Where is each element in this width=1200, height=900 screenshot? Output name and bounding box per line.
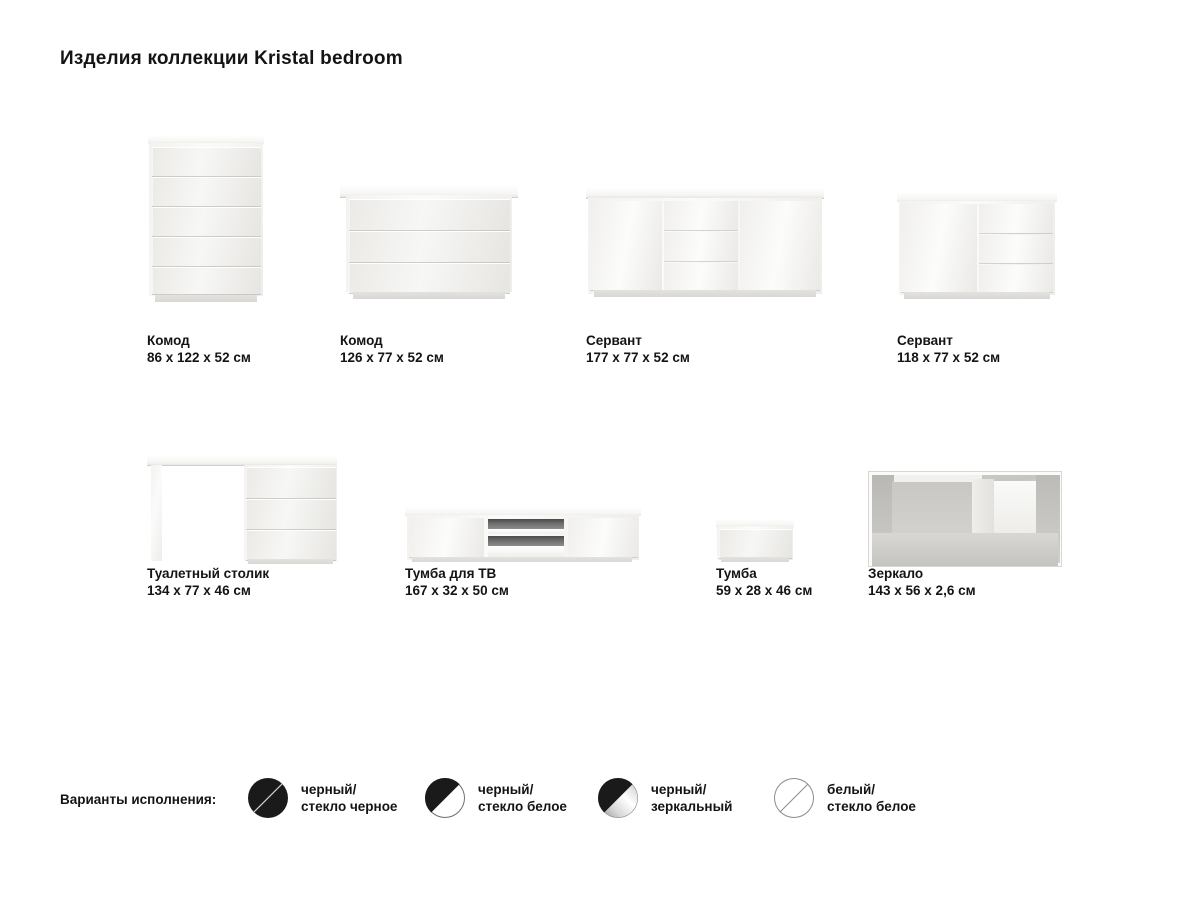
legend-option-line2: зеркальный [651,798,732,815]
product-dimensions: 86 x 122 x 52 см [147,349,251,366]
product-name: Тумба для ТВ [405,565,509,582]
swatch-half-fill-icon [425,778,465,818]
product-dimensions: 143 x 56 x 2,6 см [868,582,976,599]
product-dimensions: 59 x 28 x 46 см [716,582,812,599]
drawer-front-1 [979,204,1053,233]
drawer-front-1 [349,199,510,230]
product-image-wide-chest [340,185,518,305]
reflection-floor [872,533,1058,567]
product-caption: Туалетный столик 134 x 77 x 46 см [147,565,269,599]
product-caption: Комод 86 x 122 x 52 см [147,332,251,366]
product-caption: Сервант 118 x 77 x 52 см [897,332,1000,366]
drawer-front-2 [152,177,261,206]
product-dimensions: 126 x 77 x 52 см [340,349,444,366]
legend-option-line2: стекло белое [478,798,567,815]
product-image-tv-unit [405,507,641,565]
sideboard-top [586,187,824,198]
drawer-front-3 [349,263,510,293]
shelf-lip-1 [488,529,564,534]
product-card-tumba[interactable]: Тумба 59 x 28 x 46 см [716,430,866,610]
product-name: Тумба [716,565,812,582]
door-left [590,201,662,290]
product-caption: Тумба для ТВ 167 x 32 x 50 см [405,565,509,599]
chest-plinth [353,292,505,299]
product-image-mirror [868,471,1060,565]
product-name: Сервант [897,332,1000,349]
drawer-front-right [568,518,638,557]
door-left [901,204,977,292]
product-caption: Комод 126 x 77 x 52 см [340,332,444,366]
sideboard-plinth [594,290,816,297]
product-name: Сервант [586,332,690,349]
legend-option-line2: стекло черное [301,798,397,815]
page-title: Изделия коллекции Kristal bedroom [60,48,403,70]
tv-unit-plinth [412,557,632,562]
legend-option-line1: черный/ [478,781,567,798]
legend-option-text: белый/ стекло белое [827,781,916,815]
swatch-black-white-glass-icon [425,778,465,818]
mirror-glass [872,475,1058,563]
reflection-ceiling-strip [894,475,982,482]
open-shelf-2 [488,536,564,546]
product-card-zerkalo[interactable]: Зеркало 143 x 56 x 2,6 см [868,430,1088,610]
swatch-white-white-glass-icon [774,778,814,818]
legend-option-text: черный/ зеркальный [651,781,732,815]
swatch-diagonal-line-icon [248,778,288,818]
product-card-tualetnyy-stolik[interactable]: Туалетный столик 134 x 77 x 46 см [147,430,387,610]
drawer-front-1 [152,147,261,176]
legend-option-white-white-glass[interactable]: белый/ стекло белое [774,778,916,818]
drawer-block-plinth [248,559,333,564]
shelf-lip-2 [488,546,564,557]
product-dimensions: 118 x 77 x 52 см [897,349,1000,366]
legend-option-line1: белый/ [827,781,916,798]
swatch-half-mirror-icon [598,778,638,818]
product-caption: Зеркало 143 x 56 x 2,6 см [868,565,976,599]
drawer-front-2 [246,499,336,529]
product-name: Комод [340,332,444,349]
legend-option-text: черный/ стекло черное [301,781,397,815]
reflection-column [972,479,994,537]
drawer-front-2 [664,232,738,261]
product-image-sideboard-wide [586,187,824,305]
product-card-servant-118[interactable]: Сервант 118 x 77 x 52 см [897,140,1117,365]
product-name: Туалетный столик [147,565,269,582]
product-name: Зеркало [868,565,976,582]
reflection-wall-back [892,481,972,533]
mirror-frame [868,471,1062,567]
drawer-front-3 [246,530,336,560]
product-image-tall-chest [147,135,265,305]
legend-option-black-mirror[interactable]: черный/ зеркальный [598,778,732,818]
product-dimensions: 134 x 77 x 46 см [147,582,269,599]
product-name: Комод [147,332,251,349]
drawer-front-2 [979,235,1053,263]
sideboard-plinth [904,292,1050,299]
product-caption: Тумба 59 x 28 x 46 см [716,565,812,599]
swatch-black-black-glass-icon [248,778,288,818]
drawer-front-left [409,518,484,557]
drawer-front-3 [152,207,261,236]
product-dimensions: 177 x 77 x 52 см [586,349,690,366]
drawer-front-1 [664,201,738,230]
finish-options-legend: Варианты исполнения: черный/ стекло черн… [60,778,1140,838]
legend-option-line2: стекло белое [827,798,916,815]
chest-plinth [155,295,257,302]
product-image-sideboard-narrow [897,192,1057,305]
product-image-small-cabinet [716,519,794,565]
product-caption: Сервант 177 x 77 x 52 см [586,332,690,366]
drawer-front-5 [152,267,261,294]
legend-option-black-black-glass[interactable]: черный/ стекло черное [248,778,397,818]
legend-option-line1: черный/ [651,781,732,798]
swatch-diagonal-line-icon [774,778,814,818]
door-right [740,201,820,290]
drawer-front-1 [719,529,792,558]
drawer-front-1 [246,467,336,498]
cabinet-plinth [721,557,789,562]
drawer-front-4 [152,237,261,266]
product-card-servant-177[interactable]: Сервант 177 x 77 x 52 см [586,140,846,365]
product-card-komod-126[interactable]: Комод 126 x 77 x 52 см [340,140,580,365]
product-card-tumba-dlya-tv[interactable]: Тумба для ТВ 167 x 32 x 50 см [405,430,655,610]
drawer-front-2 [349,231,510,262]
drawer-front-3 [664,263,738,290]
drawer-front-3 [979,265,1053,292]
legend-option-text: черный/ стекло белое [478,781,567,815]
legend-label: Варианты исполнения: [60,792,216,807]
legend-option-black-white-glass[interactable]: черный/ стекло белое [425,778,567,818]
product-dimensions: 167 x 32 x 50 см [405,582,509,599]
product-image-vanity-desk [147,455,337,565]
open-shelf-1 [488,519,564,529]
desk-leg-panel [151,465,162,561]
desk-top [147,455,337,465]
legend-option-line1: черный/ [301,781,397,798]
swatch-black-mirror-icon [598,778,638,818]
